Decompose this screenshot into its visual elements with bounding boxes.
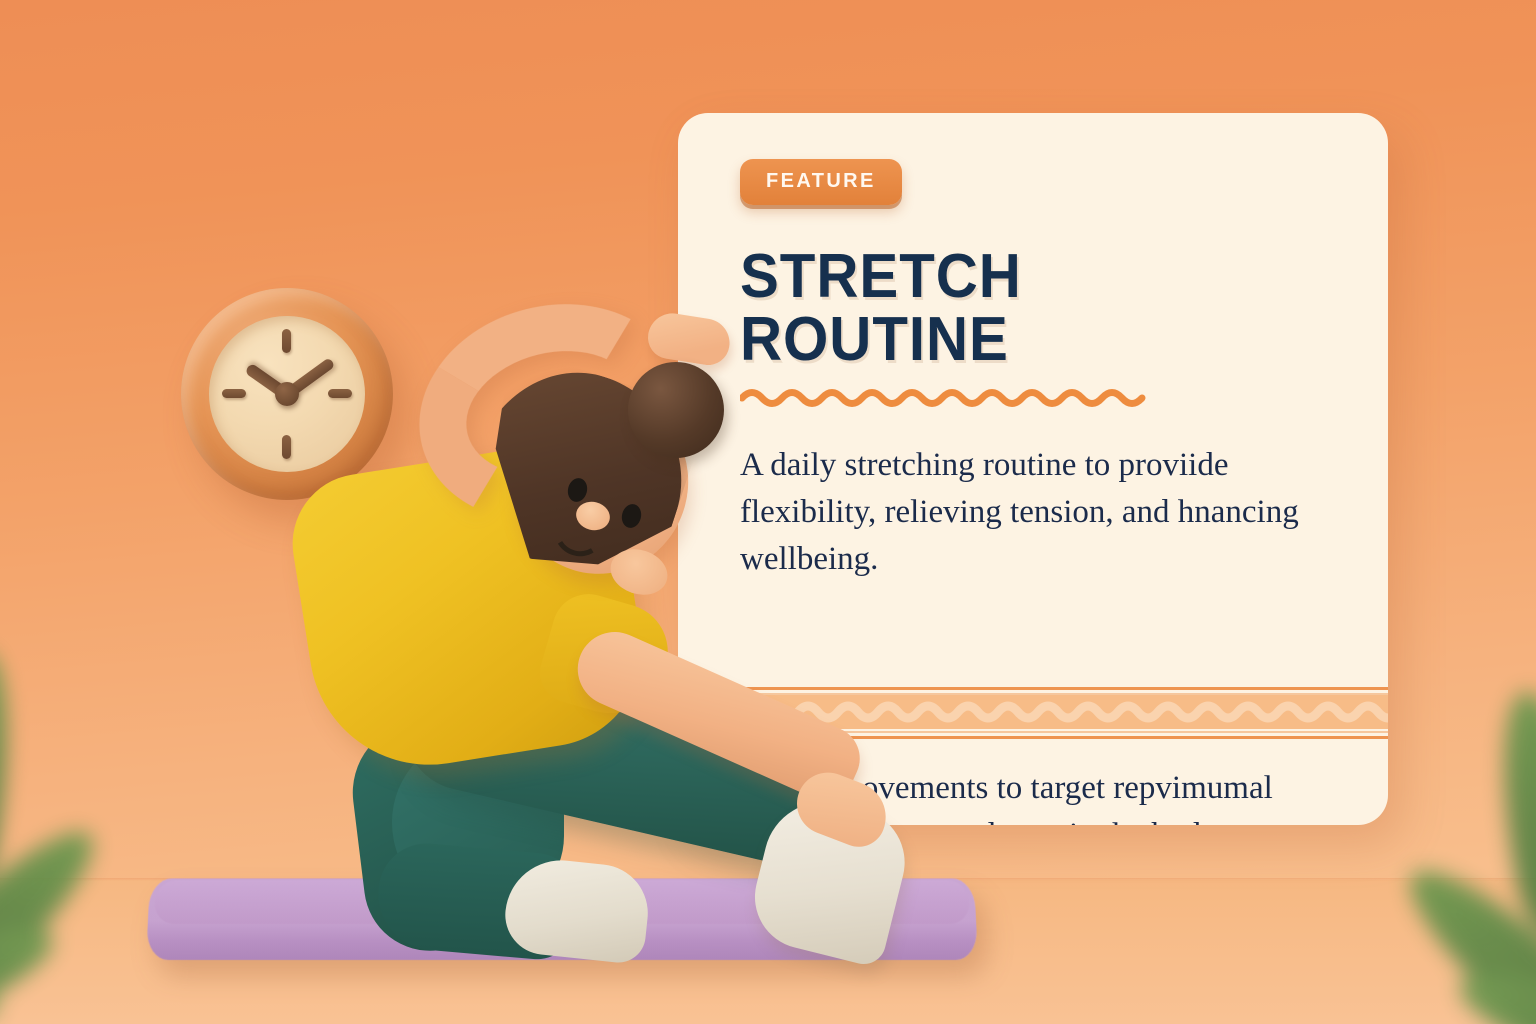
person-hair-bun [628,362,724,458]
feature-badge[interactable]: FEATURE [740,159,902,205]
poster-canvas: FEATURE STRETCH ROUTINE A daily stretchi… [0,0,1536,1024]
person-side-stretch [250,300,910,940]
palm-leaves-left [0,650,210,1024]
clock-tick-9 [222,389,246,398]
